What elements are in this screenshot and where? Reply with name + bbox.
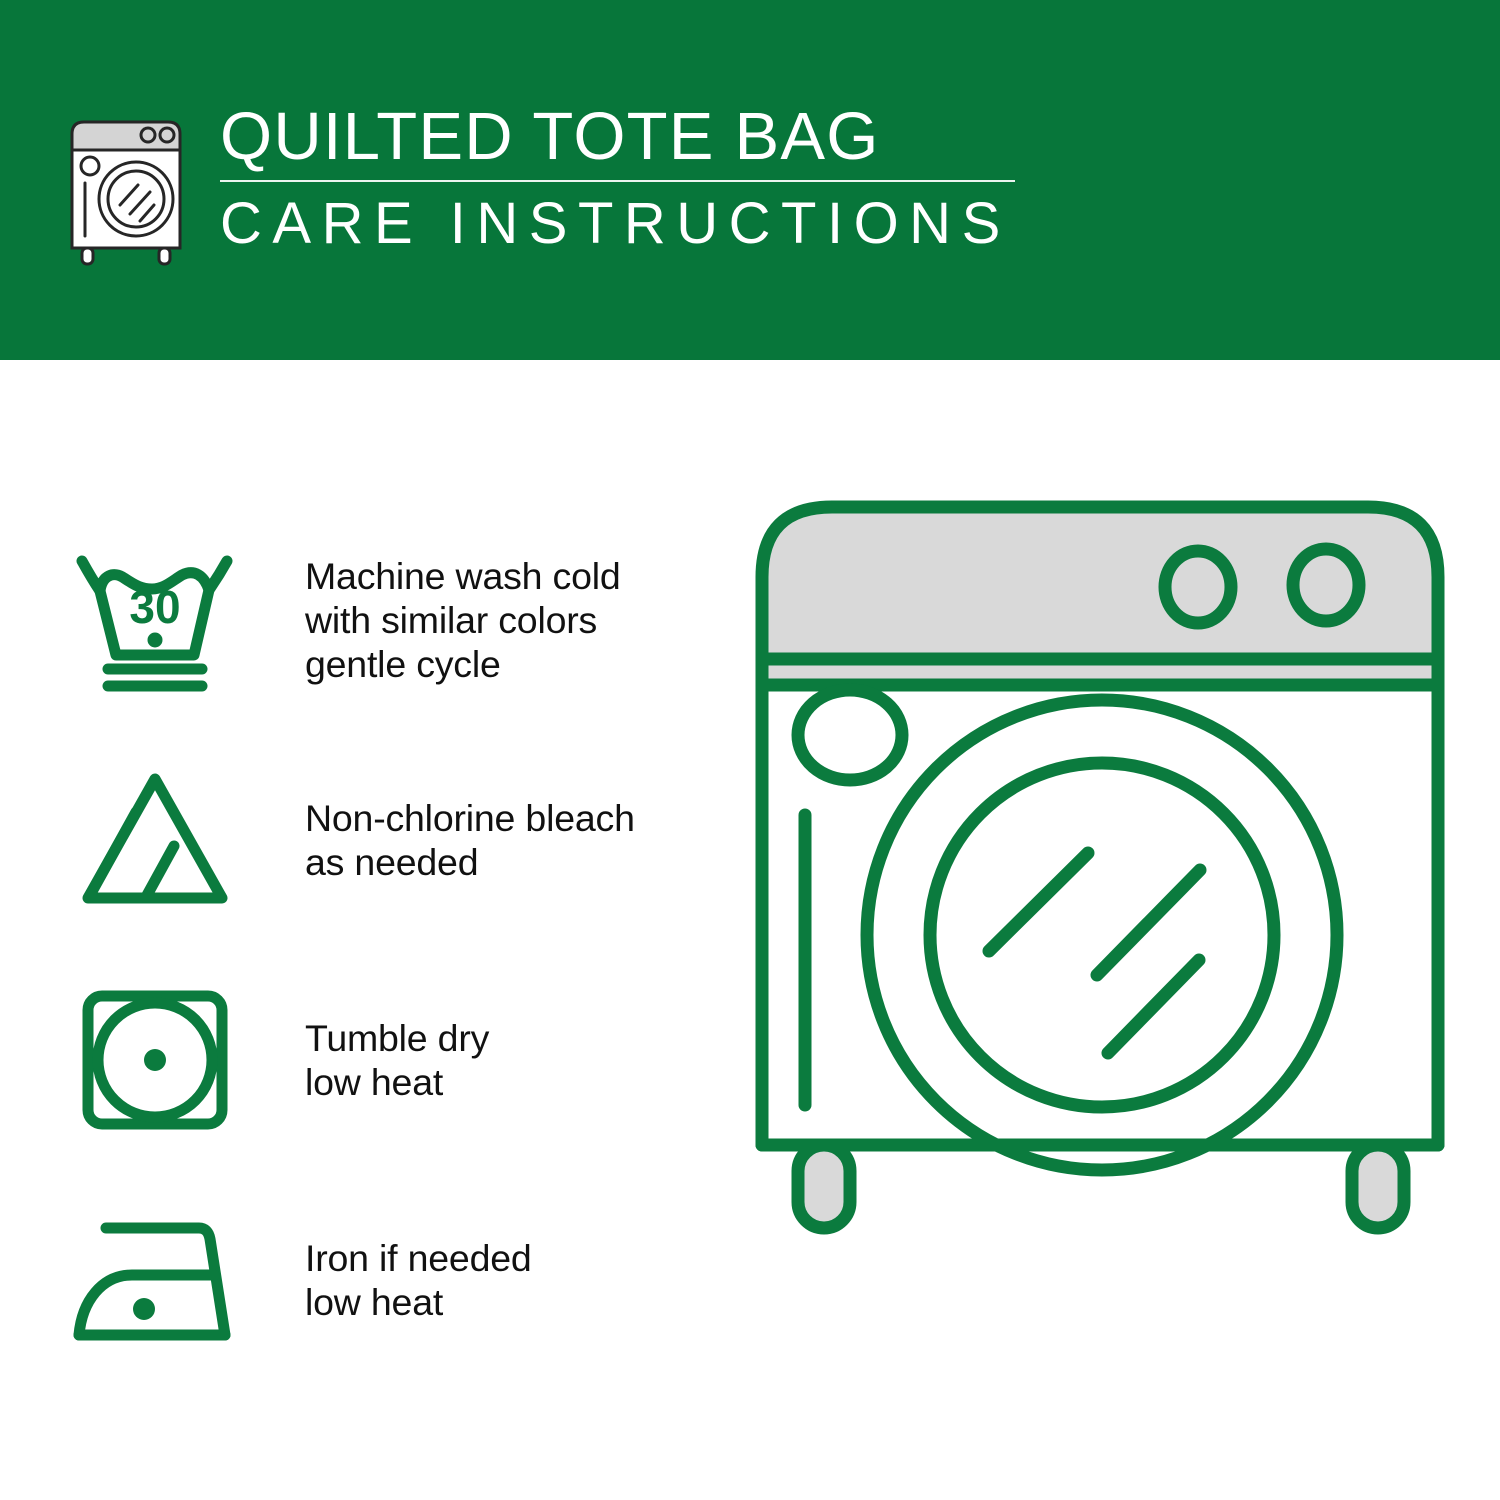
instruction-line: Iron if needed bbox=[305, 1236, 532, 1280]
non-chlorine-bleach-triangle-icon bbox=[70, 765, 245, 915]
instruction-line: Machine wash cold bbox=[305, 554, 621, 598]
page-subtitle: CARE INSTRUCTIONS bbox=[220, 193, 1020, 255]
washing-machine-icon bbox=[62, 108, 190, 268]
instruction-label: Iron if needed low heat bbox=[305, 1236, 532, 1324]
instruction-list: 30 Machine wash cold with similar colors… bbox=[70, 510, 710, 1390]
instruction-label: Machine wash cold with similar colors ge… bbox=[305, 554, 621, 686]
wash-tub-30-gentle-icon: 30 bbox=[70, 545, 245, 695]
list-item: 30 Machine wash cold with similar colors… bbox=[70, 510, 710, 730]
title-divider bbox=[220, 180, 1015, 182]
instruction-label: Non-chlorine bleach as needed bbox=[305, 796, 635, 884]
tumble-dry-low-icon bbox=[70, 985, 245, 1135]
iron-low-heat-icon bbox=[70, 1205, 245, 1355]
list-item: Iron if needed low heat bbox=[70, 1170, 710, 1390]
washer-legs bbox=[1352, 1145, 1404, 1228]
instruction-label: Tumble dry low heat bbox=[305, 1016, 489, 1104]
instruction-line: low heat bbox=[305, 1280, 532, 1324]
instruction-line: with similar colors bbox=[305, 598, 621, 642]
instruction-line: low heat bbox=[305, 1060, 489, 1104]
instruction-line: Non-chlorine bleach bbox=[305, 796, 635, 840]
control-knob-right bbox=[1293, 549, 1359, 621]
instruction-line: as needed bbox=[305, 840, 635, 884]
washer-legs bbox=[798, 1145, 850, 1228]
instruction-line: gentle cycle bbox=[305, 642, 621, 686]
instruction-line: Tumble dry bbox=[305, 1016, 489, 1060]
front-load-washing-machine-illustration bbox=[740, 485, 1460, 1435]
wash-temperature-label: 30 bbox=[129, 581, 180, 633]
control-knob-left bbox=[1165, 551, 1231, 623]
indicator-light bbox=[798, 690, 902, 780]
header-banner: QUILTED TOTE BAG CARE INSTRUCTIONS bbox=[0, 0, 1500, 360]
list-item: Tumble dry low heat bbox=[70, 950, 710, 1170]
header-text-block: QUILTED TOTE BAG CARE INSTRUCTIONS bbox=[220, 100, 1020, 255]
page-title: QUILTED TOTE BAG bbox=[220, 100, 1020, 174]
list-item: Non-chlorine bleach as needed bbox=[70, 730, 710, 950]
content-area: 30 Machine wash cold with similar colors… bbox=[0, 360, 1500, 1500]
header-content: QUILTED TOTE BAG CARE INSTRUCTIONS bbox=[62, 100, 1020, 268]
